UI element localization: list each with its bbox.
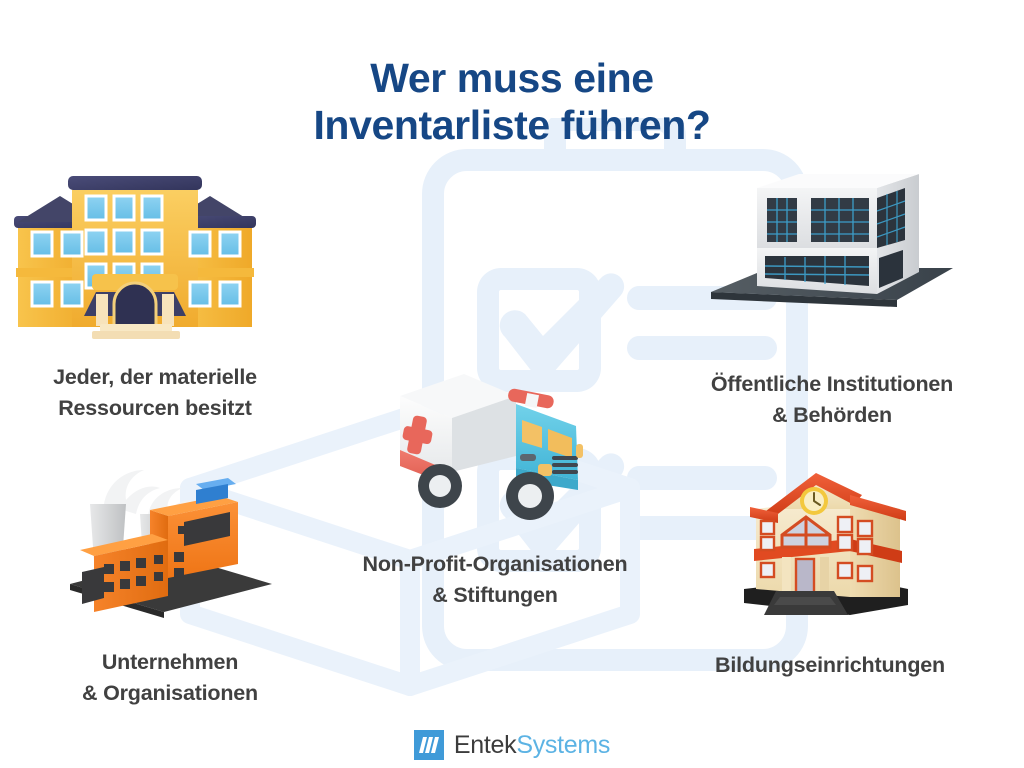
category-nonprofit-caption: Non-Profit-Organisationen & Stiftungen	[295, 549, 695, 610]
category-company: Unternehmen & Organisationen	[15, 460, 325, 708]
infographic-canvas: Wer muss eine Inventarliste führen?	[0, 0, 1024, 768]
brand-name-part-2: Systems	[516, 731, 610, 759]
category-owner-caption-line-2: Ressourcen besitzt	[0, 393, 310, 424]
category-company-caption-line-1: Unternehmen	[15, 647, 325, 678]
category-public-institutions-caption: Öffentliche Institutionen & Behörden	[640, 369, 1024, 430]
category-nonprofit-caption-line-2: & Stiftungen	[295, 580, 695, 611]
category-public-institutions-caption-line-2: & Behörden	[640, 400, 1024, 431]
ambulance-truck-illustration	[295, 368, 695, 533]
brand-logo-wordmark: EntekSystems	[454, 733, 610, 758]
school-building-icon	[730, 465, 930, 635]
category-nonprofit: Non-Profit-Organisationen & Stiftungen	[295, 368, 695, 610]
category-public-institutions-caption-line-1: Öffentliche Institutionen	[640, 369, 1024, 400]
category-company-caption: Unternehmen & Organisationen	[15, 647, 325, 708]
factory-illustration	[15, 460, 325, 625]
modern-office-building-illustration	[640, 168, 1024, 323]
classic-building-illustration	[0, 168, 310, 348]
factory-icon	[60, 460, 280, 620]
category-education-caption-line-1: Bildungseinrichtungen	[650, 650, 1010, 681]
page-title-line-2: Inventarliste führen?	[0, 102, 1024, 149]
category-owner-caption: Jeder, der materielle Ressourcen besitzt	[0, 362, 310, 423]
brand-logo[interactable]: EntekSystems	[0, 730, 1024, 760]
ambulance-truck-icon	[380, 368, 610, 528]
page-title-line-1: Wer muss eine	[370, 55, 653, 101]
category-public-institutions: Öffentliche Institutionen & Behörden	[640, 168, 1024, 430]
category-education-caption: Bildungseinrichtungen	[650, 650, 1010, 681]
modern-office-building-icon	[707, 168, 957, 318]
three-slashes-icon	[414, 730, 444, 760]
page-title: Wer muss eine Inventarliste führen?	[0, 55, 1024, 148]
school-building-illustration	[650, 465, 1010, 640]
brand-name-part-1: Entek	[454, 731, 516, 759]
category-owner: Jeder, der materielle Ressourcen besitzt	[0, 168, 310, 423]
category-nonprofit-caption-line-1: Non-Profit-Organisationen	[295, 549, 695, 580]
category-owner-caption-line-1: Jeder, der materielle	[0, 362, 310, 393]
category-company-caption-line-2: & Organisationen	[15, 678, 325, 709]
category-education: Bildungseinrichtungen	[650, 465, 1010, 681]
classic-building-icon	[0, 168, 270, 343]
